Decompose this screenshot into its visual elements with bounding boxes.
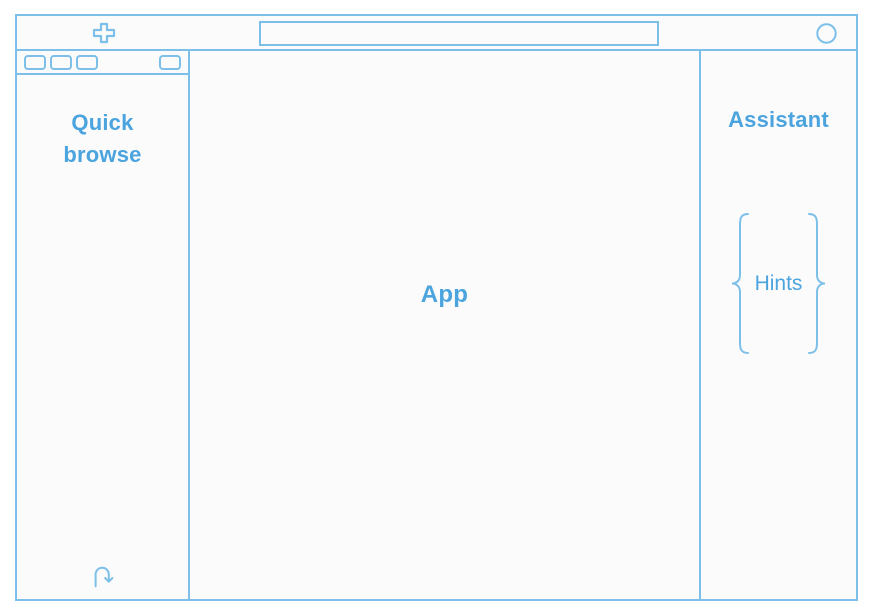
circle-avatar-icon[interactable] [816, 23, 837, 44]
sidebar-item-toolbar-button-1[interactable] [24, 55, 46, 70]
hints-label: Hints [751, 272, 807, 296]
window-body: Quick browse App Assistant [17, 51, 856, 599]
sidebar-item-toolbar-button-3[interactable] [76, 55, 98, 70]
sidebar-item-toolbar-button-2[interactable] [50, 55, 72, 70]
sidebar-title: Quick browse [17, 107, 188, 171]
new-tab-button[interactable] [17, 16, 190, 49]
plus-icon [92, 22, 116, 44]
hints-group: Hints [707, 211, 850, 356]
app-viewport[interactable]: App [190, 51, 701, 599]
assistant-title: Assistant [701, 107, 856, 133]
sidebar-toolbar [17, 51, 188, 75]
window-frame: Quick browse App Assistant [15, 14, 858, 601]
top-bar [17, 16, 856, 51]
right-curly-brace-icon [806, 211, 828, 356]
sidebar-title-line-2: browse [17, 139, 188, 171]
sidebar-footer[interactable] [17, 563, 188, 589]
screenshot-canvas: Quick browse App Assistant [0, 0, 879, 616]
app-label: App [421, 281, 469, 309]
u-turn-arrow-icon [90, 563, 116, 589]
sidebar-item-toolbar-button-4[interactable] [159, 55, 181, 70]
assistant-panel: Assistant Hints [701, 51, 856, 599]
search-input[interactable] [259, 21, 659, 46]
left-curly-brace-icon [729, 211, 751, 356]
sidebar-title-line-1: Quick [17, 107, 188, 139]
quick-browse-sidebar: Quick browse [17, 51, 190, 599]
